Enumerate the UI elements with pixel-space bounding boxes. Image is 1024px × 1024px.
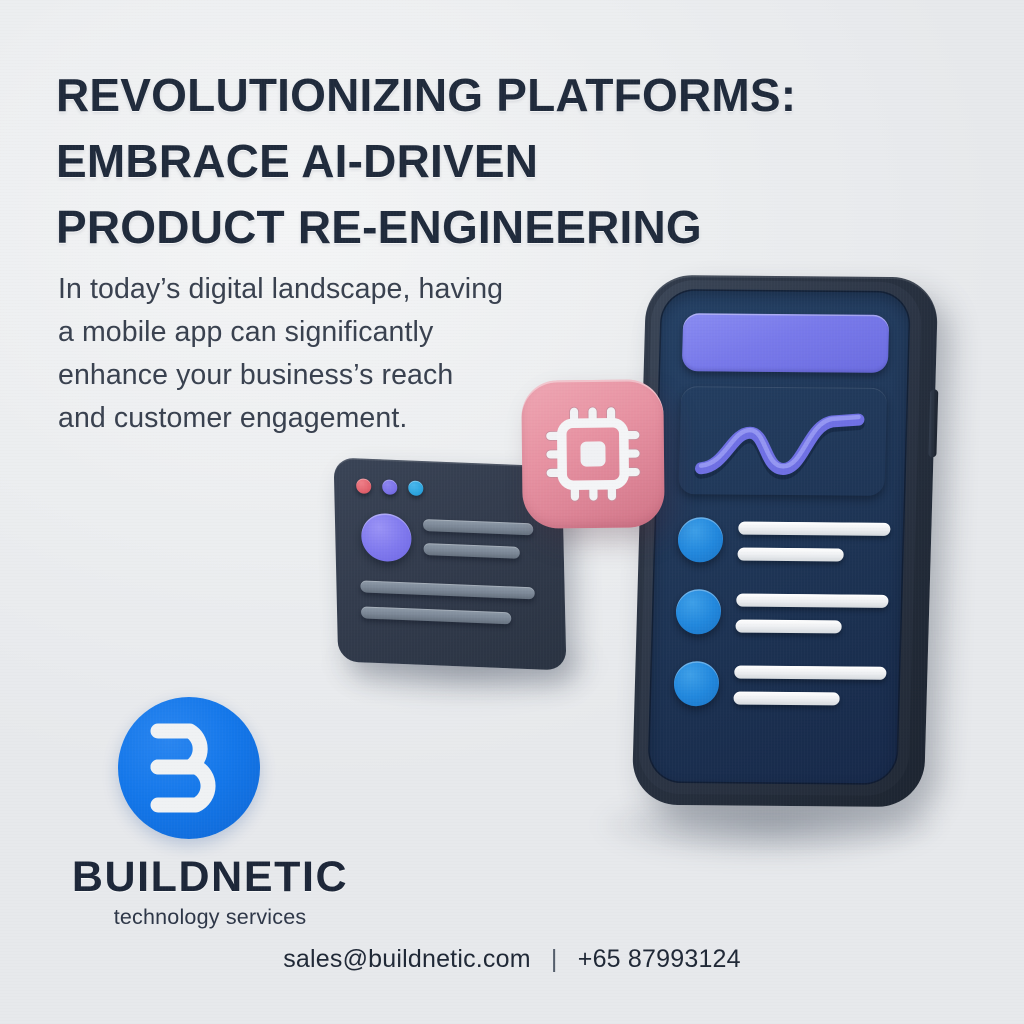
cpu-chip-icon (521, 379, 665, 528)
phone-mockup (632, 275, 939, 807)
list-item-title-bar (734, 666, 886, 680)
list-item (669, 583, 911, 657)
avatar (675, 589, 721, 634)
brand-wordmark: BUILDNETIC (60, 853, 360, 902)
phone-chart-card (678, 386, 887, 496)
minimize-dot-icon (382, 479, 397, 495)
brand-tagline: technology services (60, 905, 360, 930)
phone-list (667, 511, 911, 729)
poster-canvas: REVOLUTIONIZING PLATFORMS: EMBRACE AI-DR… (0, 0, 1024, 1024)
avatar (677, 517, 723, 562)
phone-side-button-icon (928, 389, 938, 457)
list-item-title-bar (736, 594, 888, 608)
contact-divider: | (538, 945, 571, 974)
list-item (671, 511, 911, 585)
contact-phone[interactable]: +65 87993124 (578, 945, 741, 973)
close-dot-icon (356, 478, 371, 494)
list-item-title-bar (738, 522, 890, 536)
maximize-dot-icon (408, 480, 423, 496)
avatar (673, 661, 719, 706)
contact-email[interactable]: sales@buildnetic.com (283, 945, 531, 973)
list-item-subtitle-bar (737, 548, 843, 562)
list-item-subtitle-bar (733, 692, 839, 706)
phone-screen (647, 289, 911, 785)
list-item (667, 655, 909, 729)
contact-footer: sales@buildnetic.com | +65 87993124 (0, 945, 1024, 974)
ai-chip-tile (521, 379, 665, 528)
list-item-subtitle-bar (735, 620, 841, 634)
window-traffic-lights (356, 478, 423, 496)
trend-line-icon (678, 386, 887, 496)
brand-logo: BUILDNETIC technology services (60, 697, 360, 930)
buildnetic-b-mark-icon (118, 697, 260, 839)
phone-banner-block (682, 313, 890, 373)
